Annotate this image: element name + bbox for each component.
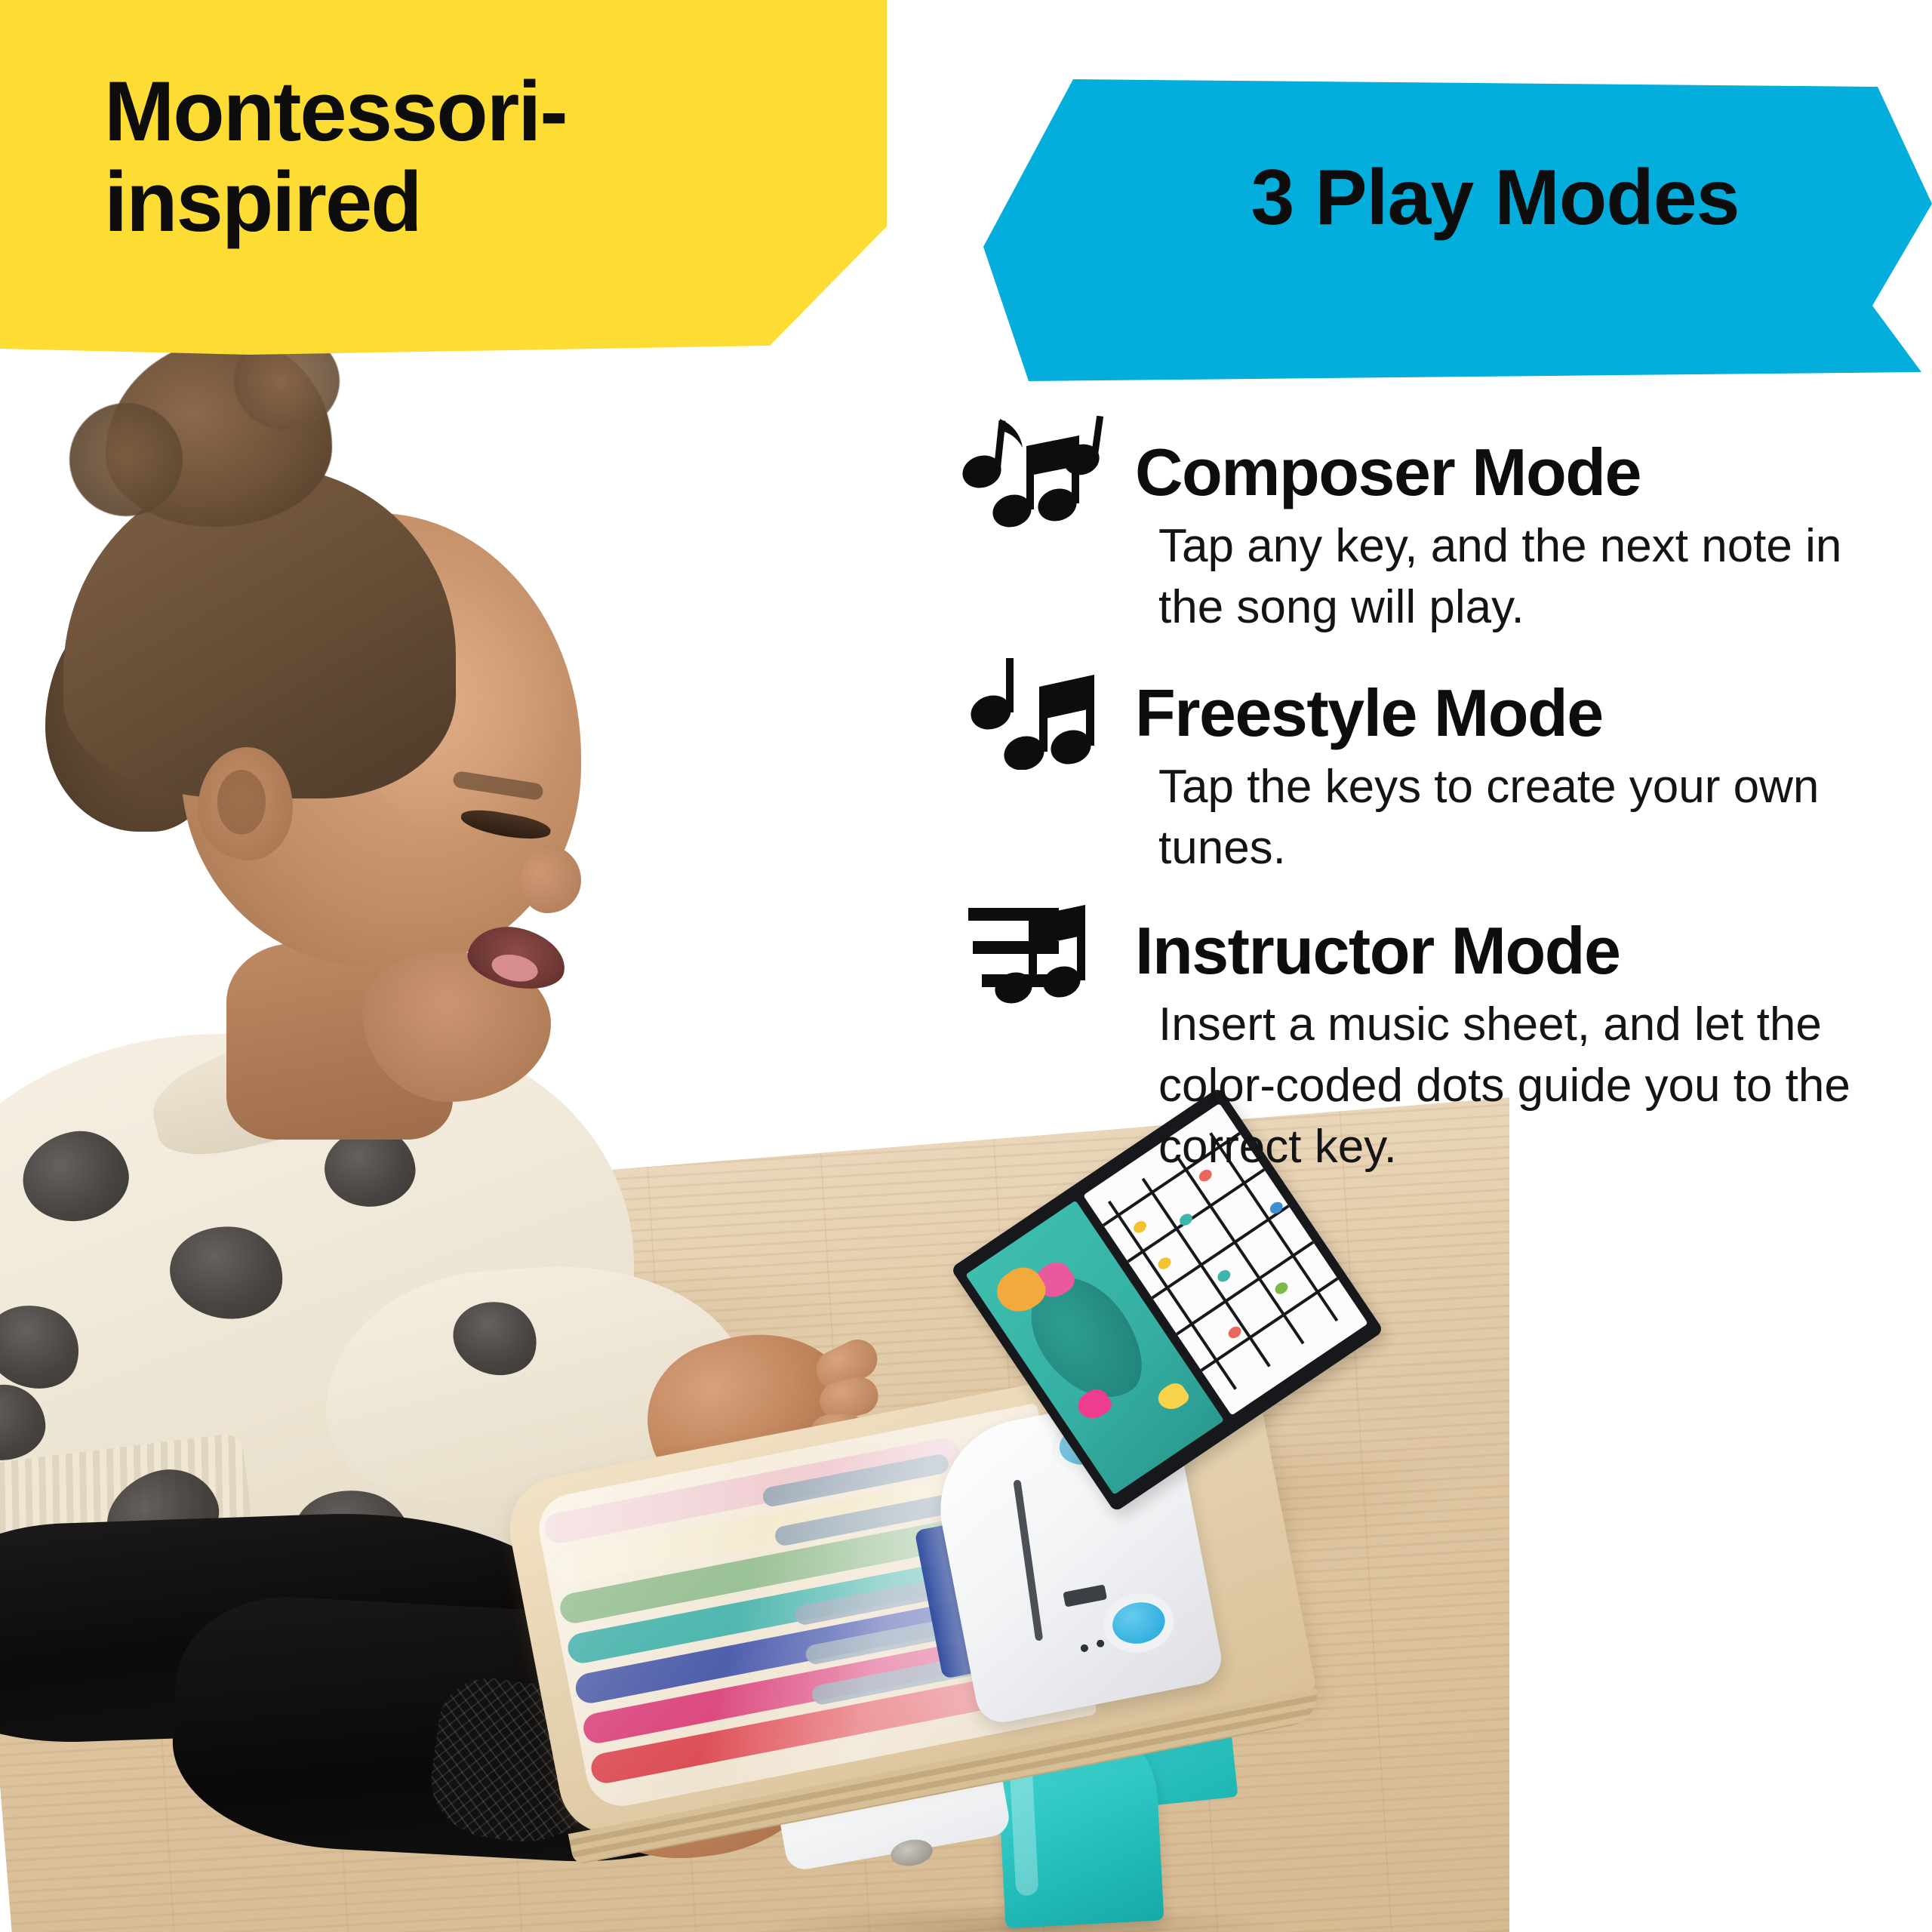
play-modes-headline: 3 Play Modes (1103, 153, 1887, 243)
marketing-infographic: Montessori- inspired 3 Play Modes (0, 0, 1932, 1932)
child-nose (521, 845, 581, 913)
music-notes-double-icon (958, 657, 1109, 770)
mode-switch-icon (1063, 1584, 1107, 1607)
mode-item-composer: Composer Mode Tap any key, and the next … (958, 423, 1932, 638)
mode-description: Insert a music sheet, and let the color-… (1158, 995, 1898, 1177)
montessori-headline: Montessori- inspired (104, 66, 851, 248)
music-notes-triple-icon (958, 416, 1109, 529)
mode-item-instructor: Instructor Mode Insert a music sheet, an… (958, 901, 1932, 1177)
mode-title: Composer Mode (1135, 434, 1641, 511)
toy-piano (528, 1223, 1472, 1902)
mode-item-freestyle: Freestyle Mode Tap the keys to create yo… (958, 663, 1932, 878)
music-note-staff-icon (958, 894, 1109, 1008)
mode-description: Tap the keys to create your own tunes. (1158, 757, 1898, 878)
hair-bun (106, 338, 332, 527)
play-modes-banner: 3 Play Modes (983, 79, 1932, 381)
music-sheet-slot (1013, 1479, 1043, 1641)
montessori-banner: Montessori- inspired (0, 0, 887, 355)
play-modes-list: Composer Mode Tap any key, and the next … (958, 423, 1932, 1189)
mode-description: Tap any key, and the next note in the so… (1158, 516, 1883, 638)
mode-title: Freestyle Mode (1135, 675, 1603, 752)
mode-title: Instructor Mode (1135, 912, 1620, 989)
